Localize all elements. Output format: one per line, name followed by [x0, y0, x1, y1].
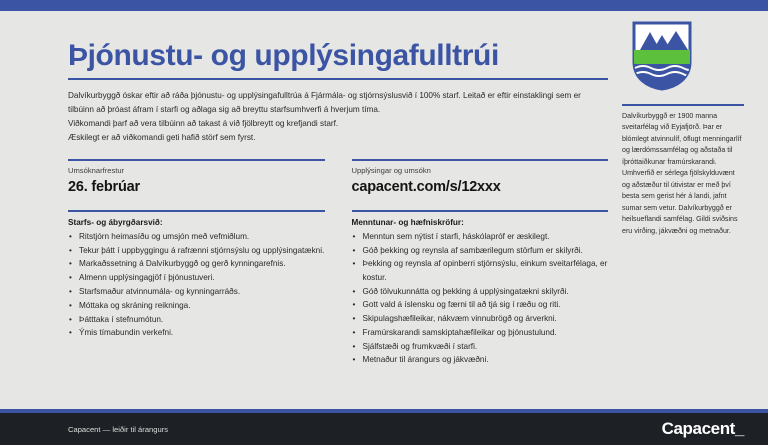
bullet-icon: •: [353, 340, 356, 353]
list-item-label: Móttaka og skráning reikninga.: [79, 301, 191, 310]
list-item-label: Ýmis tímabundin verkefni.: [79, 328, 173, 337]
headline-divider: [68, 78, 608, 80]
list-item-label: Sjálfstæði og frumkvæði í starfi.: [363, 342, 478, 351]
sidebar-description: Dalvíkurbyggð er 1900 manna sveitarfélag…: [622, 111, 744, 237]
list-item-label: Metnaður til árangurs og jákvæðni.: [363, 355, 489, 364]
top-accent-bar: [0, 0, 768, 11]
left-column-divider-top: [68, 159, 325, 161]
list-item-label: Góð þekking og reynsla af sambærilegum s…: [363, 246, 583, 255]
list-item: •Gott vald á íslensku og færni til að tj…: [352, 298, 609, 311]
bullet-icon: •: [353, 230, 356, 243]
deadline-label: Umsóknarfrestur: [68, 166, 325, 176]
columns-container: Umsóknarfrestur 26. febrúar Starfs- og á…: [68, 159, 608, 367]
application-url[interactable]: capacent.com/s/12xxx: [352, 178, 609, 196]
responsibilities-heading: Starfs- og ábyrgðarsvið:: [68, 218, 325, 227]
list-item-label: Starfsmaður atvinnumála- og kynningarráð…: [79, 287, 240, 296]
footer-tagline: Capacent — leiðir til árangurs: [68, 425, 168, 434]
list-item: •Menntun sem nýtist í starfi, háskólapró…: [352, 230, 609, 243]
list-item: •Tekur þátt í uppbyggingu á rafrænni stj…: [68, 244, 325, 257]
list-item: •Þátttaka í stefnumótun.: [68, 313, 325, 326]
list-item: •Almenn upplýsingagjöf í þjónustuveri.: [68, 271, 325, 284]
left-column-divider-mid: [68, 210, 325, 212]
job-advert-page: Þjónustu- og upplýsingafulltrúi Dalvíkur…: [0, 0, 768, 445]
bullet-icon: •: [69, 257, 72, 270]
bullet-icon: •: [353, 257, 356, 270]
list-item: •Góð þekking og reynsla af sambærilegum …: [352, 244, 609, 257]
capacent-logo: Capacent_: [662, 419, 744, 439]
list-item: •Skipulagshæfileikar, nákvæm vinnubrögð …: [352, 312, 609, 325]
deadline-value: 26. febrúar: [68, 178, 325, 196]
intro-paragraph: Viðkomandi þarf að vera tilbúinn að taka…: [68, 117, 608, 131]
bullet-icon: •: [353, 312, 356, 325]
list-item: •Móttaka og skráning reikninga.: [68, 299, 325, 312]
list-item: •Ýmis tímabundin verkefni.: [68, 326, 325, 339]
responsibilities-list: •Ritstjórn heimasíðu og umsjón með vefmi…: [68, 230, 325, 340]
bullet-icon: •: [353, 244, 356, 257]
list-item-label: Menntun sem nýtist í starfi, háskólapróf…: [363, 232, 550, 241]
list-item: •Framúrskarandi samskiptahæfileikar og þ…: [352, 326, 609, 339]
requirements-list: •Menntun sem nýtist í starfi, háskólapró…: [352, 230, 609, 367]
list-item: •Ritstjórn heimasíðu og umsjón með vefmi…: [68, 230, 325, 243]
requirements-heading: Menntunar- og hæfniskröfur:: [352, 218, 609, 227]
list-item: •Starfsmaður atvinnumála- og kynningarrá…: [68, 285, 325, 298]
right-column-divider-top: [352, 159, 609, 161]
list-item-label: Þátttaka í stefnumótun.: [79, 315, 163, 324]
bullet-icon: •: [69, 299, 72, 312]
sidebar: Dalvíkurbyggð er 1900 manna sveitarfélag…: [622, 20, 744, 237]
right-column-divider-mid: [352, 210, 609, 212]
list-item-label: Ritstjórn heimasíðu og umsjón með vefmið…: [79, 232, 249, 241]
bullet-icon: •: [69, 285, 72, 298]
dalvikurbyggd-coat-of-arms-icon: [631, 20, 693, 92]
bullet-icon: •: [353, 326, 356, 339]
list-item: •Markaðssetning á Dalvíkurbyggð og gerð …: [68, 257, 325, 270]
bullet-icon: •: [69, 244, 72, 257]
list-item: •Sjálfstæði og frumkvæði í starfi.: [352, 340, 609, 353]
list-item-label: Góð tölvukunnátta og þekking á upplýsing…: [363, 287, 569, 296]
bullet-icon: •: [69, 313, 72, 326]
intro-paragraph: Æskilegt er að viðkomandi geti hafið stö…: [68, 131, 608, 145]
list-item-label: Markaðssetning á Dalvíkurbyggð og gerð k…: [79, 259, 286, 268]
list-item-label: Tekur þátt í uppbyggingu á rafrænni stjó…: [79, 246, 324, 255]
spacer: [68, 196, 325, 210]
bullet-icon: •: [353, 353, 356, 366]
application-label: Upplýsingar og umsókn: [352, 166, 609, 176]
main-content: Þjónustu- og upplýsingafulltrúi Dalvíkur…: [68, 40, 608, 367]
footer: Capacent — leiðir til árangurs Capacent_: [0, 413, 768, 445]
bullet-icon: •: [353, 298, 356, 311]
list-item-label: Skipulagshæfileikar, nákvæm vinnubrögð o…: [363, 314, 557, 323]
spacer: [352, 196, 609, 210]
column-deadline: Umsóknarfrestur 26. febrúar Starfs- og á…: [68, 159, 325, 367]
bullet-icon: •: [69, 230, 72, 243]
page-title: Þjónustu- og upplýsingafulltrúi: [68, 40, 608, 72]
list-item: •Metnaður til árangurs og jákvæðni.: [352, 353, 609, 366]
intro-text: Dalvíkurbyggð óskar eftir að ráða þjónus…: [68, 89, 608, 145]
list-item: •Góð tölvukunnátta og þekking á upplýsin…: [352, 285, 609, 298]
bullet-icon: •: [69, 271, 72, 284]
list-item-label: Gott vald á íslensku og færni til að tjá…: [363, 300, 561, 309]
list-item-label: Framúrskarandi samskiptahæfileikar og þj…: [363, 328, 557, 337]
column-application: Upplýsingar og umsókn capacent.com/s/12x…: [352, 159, 609, 367]
list-item-label: Þekking og reynsla af opinberri stjórnsý…: [363, 259, 608, 281]
bullet-icon: •: [69, 326, 72, 339]
sidebar-divider: [622, 104, 744, 106]
list-item: •Þekking og reynsla af opinberri stjórns…: [352, 257, 609, 284]
list-item-label: Almenn upplýsingagjöf í þjónustuveri.: [79, 273, 215, 282]
bullet-icon: •: [353, 285, 356, 298]
intro-paragraph: Dalvíkurbyggð óskar eftir að ráða þjónus…: [68, 89, 608, 117]
